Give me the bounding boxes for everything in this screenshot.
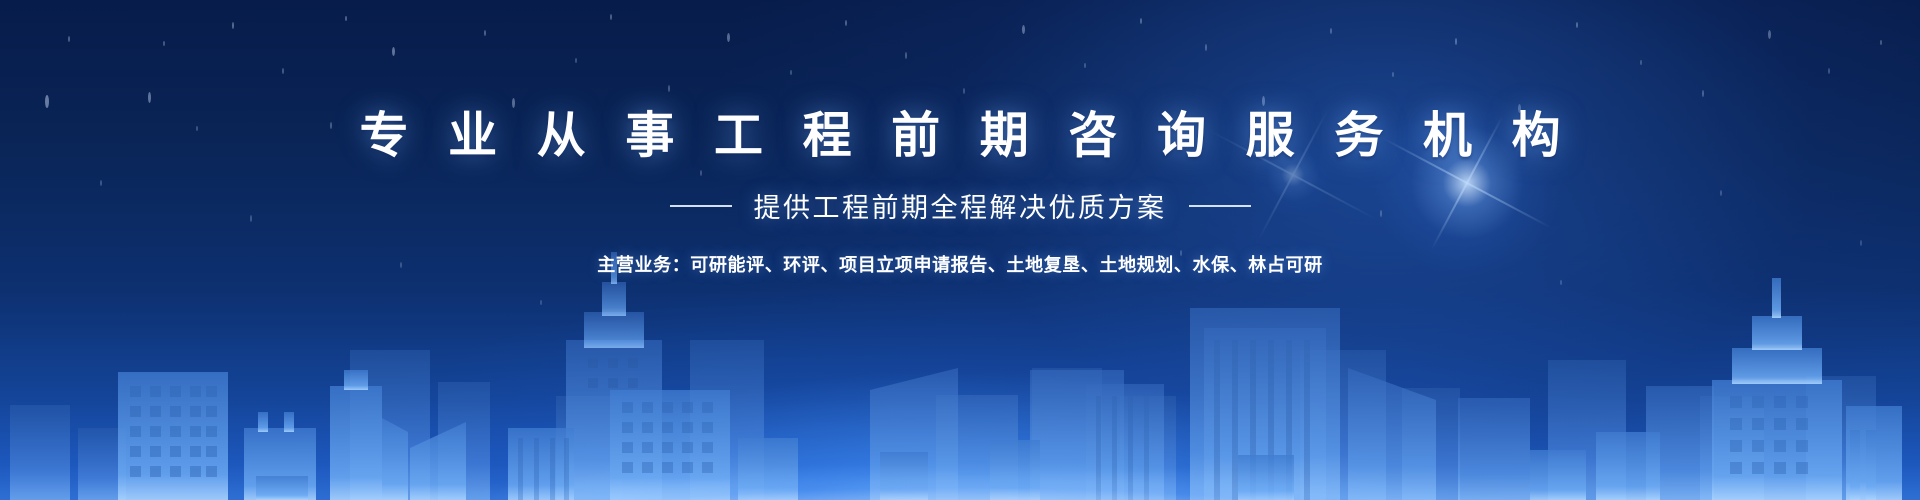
hero-banner: 专 业 从 事 工 程 前 期 咨 询 服 务 机 构 提供工程前期全程解决优质… xyxy=(0,0,1920,500)
banner-business-scope: 主营业务：可研能评、环评、项目立项申请报告、土地复垦、土地规划、水保、林占可研 xyxy=(597,251,1322,277)
banner-headline: 专 业 从 事 工 程 前 期 咨 询 服 务 机 构 xyxy=(347,108,1574,164)
right-dash-icon xyxy=(1189,205,1251,207)
banner-subtitle: 提供工程前期全程解决优质方案 xyxy=(754,186,1167,225)
banner-subtitle-row: 提供工程前期全程解决优质方案 xyxy=(670,186,1251,225)
banner-content: 专 业 从 事 工 程 前 期 咨 询 服 务 机 构 提供工程前期全程解决优质… xyxy=(0,0,1920,500)
left-dash-icon xyxy=(670,205,732,207)
